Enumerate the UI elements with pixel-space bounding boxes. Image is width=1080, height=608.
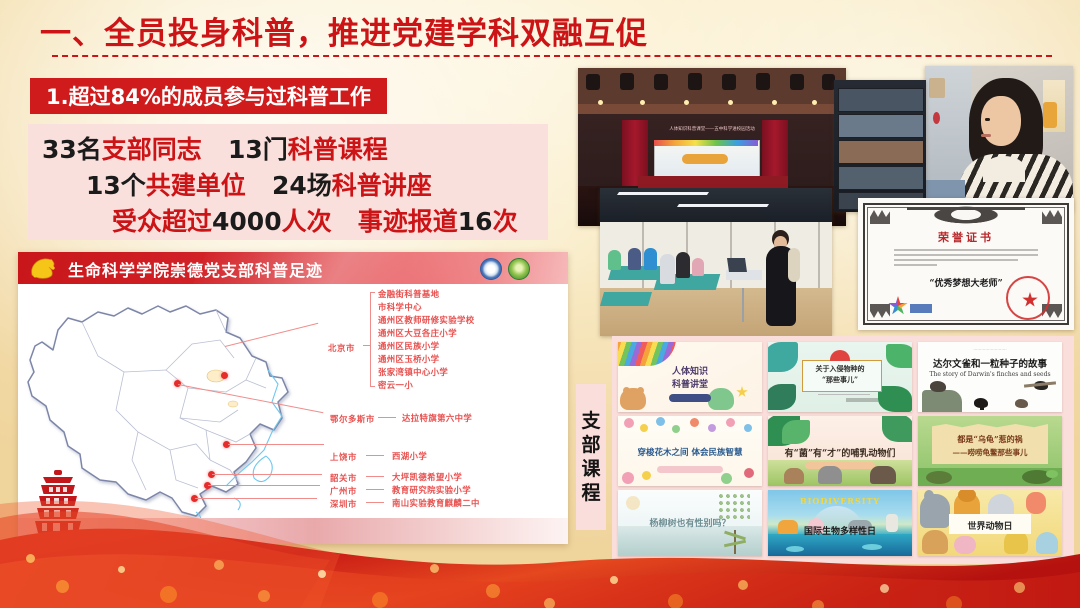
computer-lab-photo <box>834 80 926 212</box>
certificate-heading: 荣誉证书 <box>858 229 1074 245</box>
hammer-sickle-icon <box>26 255 60 281</box>
course-card-subtitle-5: ——唠唠龟鳖那些事儿 <box>918 447 1062 458</box>
bokeh-dot <box>880 584 889 593</box>
leader-line-shangrao <box>228 444 324 445</box>
course-card-title-1: 关于入侵物种的 <box>768 364 912 374</box>
course-card-title-5: 都是“乌龟”惹的祸 <box>918 434 1062 445</box>
bokeh-dot <box>258 590 270 602</box>
bokeh-dot <box>812 600 824 608</box>
stat-3b: 4000 <box>212 207 282 236</box>
course-card-5[interactable]: 都是“乌龟”惹的祸 ——唠唠龟鳖那些事儿 <box>918 416 1062 486</box>
dash-ordos <box>378 417 396 418</box>
bokeh-dot <box>668 594 683 608</box>
course-card-title-0: 人体知识 <box>618 364 762 377</box>
bokeh-dot <box>610 576 618 584</box>
vlabel-char-2: 课 <box>581 457 600 481</box>
course-card-3[interactable]: 穿梭花木之间 体会民族智慧 <box>618 416 762 486</box>
course-card-subtitle-0: 科普讲堂 <box>618 377 762 390</box>
beijing-place-0: 金融街科普基地 <box>378 288 439 300</box>
map-city-label-ordos: 鄂尔多斯市 <box>330 413 375 425</box>
green-circle-logo-icon <box>508 258 530 280</box>
course-card-4[interactable]: 有“菌”有“才”的哺乳动物们 <box>768 416 912 486</box>
map-panel-header: 生命科学学院崇德党支部科普足迹 <box>18 252 568 284</box>
bokeh-dot <box>544 598 555 608</box>
map-panel-title: 生命科学学院崇德党支部科普足迹 <box>68 257 323 281</box>
stat-2b: 共建单位 <box>146 171 246 200</box>
statistics-panel: 33名支部同志 13门科普课程 13个共建单位 24场科普讲座 受众超过4000… <box>28 124 548 240</box>
map-place-ordos: 达拉特旗第六中学 <box>402 412 472 424</box>
bokeh-dot <box>318 570 326 578</box>
stat-1b: 支部同志 <box>102 135 202 164</box>
section-banner: 1.超过84%的成员参与过科普工作 <box>30 78 387 114</box>
bokeh-dot <box>486 584 500 598</box>
page-title: 一、全员投身科普，推进党建学科双融互促 <box>40 8 648 53</box>
dash-shaoguan <box>366 476 384 477</box>
classroom-teaching-photo <box>600 188 832 336</box>
beijing-place-2: 通州区教师研修实验学校 <box>378 314 475 326</box>
course-card-title-3: 穿梭花木之间 体会民族智慧 <box>618 446 762 458</box>
bottom-ribbon <box>0 488 1080 608</box>
bokeh-dot <box>26 554 35 563</box>
bokeh-dot <box>56 580 69 593</box>
course-card-subtitle-1: “那些事儿” <box>768 375 912 385</box>
vlabel-char-0: 支 <box>581 409 600 433</box>
bokeh-dot <box>946 596 962 608</box>
stat-2a: 13个 <box>86 171 146 200</box>
presentation-slide: 一、全员投身科普，推进党建学科双融互促 1.超过84%的成员参与过科普工作 33… <box>0 0 1080 608</box>
dash-shangrao <box>366 455 384 456</box>
bokeh-dot <box>160 586 177 603</box>
stat-line-2: 13个共建单位 24场科普讲座 <box>86 168 432 204</box>
bokeh-dot <box>1014 582 1025 593</box>
vlabel-char-1: 部 <box>581 433 600 457</box>
course-card-subtitle-2: The story of Darwin's finches and seeds <box>918 371 1062 378</box>
stat-3e: 16 <box>458 207 493 236</box>
stat-3d: 事迹报道 <box>358 207 458 236</box>
bokeh-dot <box>738 580 748 590</box>
beijing-bracket <box>370 292 371 386</box>
beijing-place-4: 通州区民族小学 <box>378 340 439 352</box>
stat-1c: 13门 <box>228 135 288 164</box>
course-card-0[interactable]: 人体知识 科普讲堂 <box>618 342 762 412</box>
course-card-title-4: 有“菌”有“才”的哺乳动物们 <box>768 446 912 459</box>
bokeh-dot <box>214 560 224 570</box>
stat-line-1: 33名支部同志 13门科普课程 <box>42 132 388 168</box>
beijing-place-3: 通州区大豆各庄小学 <box>378 327 457 339</box>
stat-3f: 次 <box>493 207 518 236</box>
map-dot-beijing <box>221 372 228 379</box>
beijing-place-6: 张家湾镇中心小学 <box>378 366 448 378</box>
honor-certificate-photo: 荣誉证书 “优秀梦想大老师” <box>858 198 1074 330</box>
university-seal-icon <box>480 258 502 280</box>
stat-2d: 科普讲座 <box>332 171 432 200</box>
bokeh-dot <box>372 592 388 608</box>
map-city-label-shangrao: 上饶市 <box>330 451 357 463</box>
course-card-1[interactable]: 关于入侵物种的 “那些事儿” <box>768 342 912 412</box>
beijing-place-7: 密云一小 <box>378 379 413 391</box>
beijing-place-5: 通州区玉桥小学 <box>378 353 439 365</box>
leader-line-shaoguan <box>212 474 322 475</box>
beijing-place-1: 市科学中心 <box>378 301 422 313</box>
map-place-shaoguan: 大坪凯德希望小学 <box>392 471 462 483</box>
course-card-title-2: 达尔文雀和一粒种子的故事 <box>918 356 1062 370</box>
stat-line-3: 受众超过4000人次 事迹报道16次 <box>112 204 518 240</box>
course-card-2[interactable]: ························· 达尔文雀和一粒种子的故事 T… <box>918 342 1062 412</box>
online-teaching-woman-photo <box>925 66 1073 212</box>
stat-3a: 受众超过 <box>112 207 212 236</box>
beijing-bracket-bottom <box>370 386 375 387</box>
map-place-shangrao: 西湖小学 <box>392 450 427 462</box>
beijing-bracket-stem <box>363 345 371 346</box>
stat-3c: 人次 <box>282 207 332 236</box>
map-city-label-shaoguan: 韶关市 <box>330 472 357 484</box>
leader-line-guangzhou <box>208 485 320 486</box>
stat-1a: 33名 <box>42 135 102 164</box>
stat-2c: 24场 <box>272 171 332 200</box>
header-divider <box>52 55 1052 57</box>
map-city-label-beijing: 北京市 <box>328 342 355 354</box>
bokeh-dot <box>118 566 125 573</box>
auditorium-photo-caption: 人体知识科普课堂——五中科学进校园活动 <box>578 126 846 132</box>
beijing-bracket-top <box>370 292 375 293</box>
bokeh-dot <box>430 564 439 573</box>
stat-1d: 科普课程 <box>288 135 388 164</box>
